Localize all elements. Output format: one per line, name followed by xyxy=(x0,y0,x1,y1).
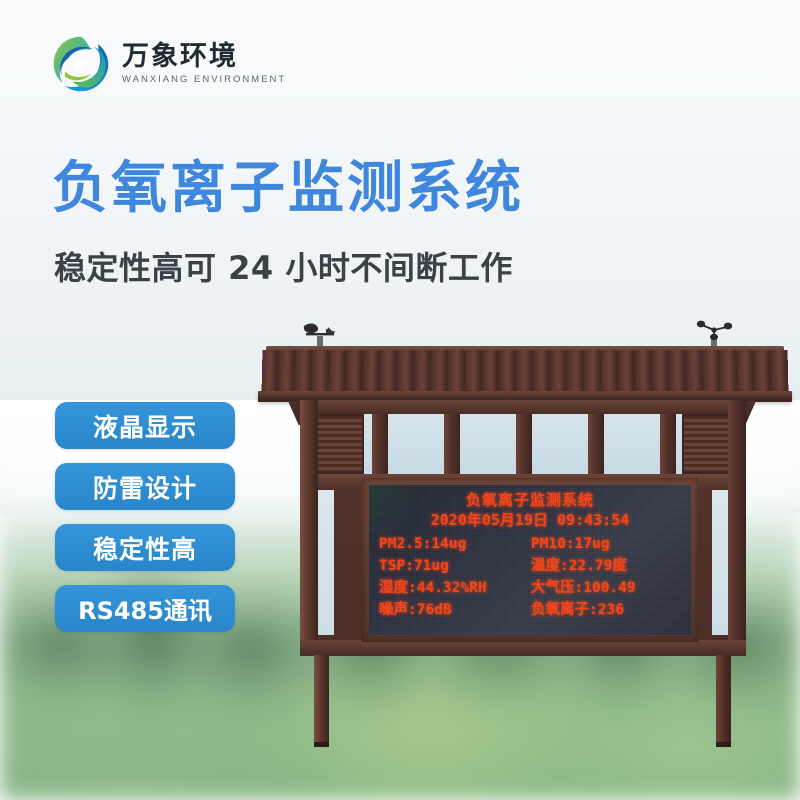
support-leg-right-cap xyxy=(716,742,731,747)
led-reading-humidity: 湿度:44.32%RH xyxy=(379,577,531,599)
led-reading-pressure: 大气压:100.49 xyxy=(531,577,681,599)
cabinet-side-pane-right xyxy=(712,490,728,635)
window-mullion-4 xyxy=(588,412,604,476)
window-mullion-3 xyxy=(516,412,532,476)
cabinet-rail-top xyxy=(300,400,746,414)
led-reading-negative-oxygen-ions: 负氧离子:236 xyxy=(531,599,681,621)
led-reading-temperature: 温度:22.79度 xyxy=(531,555,681,577)
window-mullion-2 xyxy=(444,412,460,476)
monitoring-station: 负氧离子监测系统 2020年05月19日 09:43:54 PM2.5:14ug… xyxy=(0,0,800,800)
cabinet-post-right xyxy=(728,400,746,655)
support-leg-left xyxy=(314,655,329,747)
radiation-shield-louver-right xyxy=(682,414,730,474)
window-mullion-5 xyxy=(660,412,676,476)
cabinet-rail-bottom xyxy=(300,640,746,656)
led-reading-tsp: TSP:71ug xyxy=(379,555,531,577)
led-title: 负氧离子监测系统 xyxy=(379,491,681,510)
window-mullion-1 xyxy=(372,412,388,476)
led-display-frame: 负氧离子监测系统 2020年05月19日 09:43:54 PM2.5:14ug… xyxy=(362,478,698,642)
roof-tiles xyxy=(262,350,789,394)
led-display-screen[interactable]: 负氧离子监测系统 2020年05月19日 09:43:54 PM2.5:14ug… xyxy=(369,485,691,635)
radiation-shield-louver-left xyxy=(316,414,364,474)
led-datetime: 2020年05月19日 09:43:54 xyxy=(379,511,681,531)
support-leg-left-cap xyxy=(314,742,329,747)
led-reading-noise: 噪声:76dB xyxy=(379,599,531,621)
support-leg-right xyxy=(716,655,731,747)
cabinet-side-pane-left xyxy=(318,490,334,635)
led-reading-pm10: PM10:17ug xyxy=(531,533,681,555)
cabinet-post-left xyxy=(300,400,318,655)
promo-poster: 万象环境 WANXIANG ENVIRONMENT 负氧离子监测系统 稳定性高可… xyxy=(0,0,800,800)
led-reading-pm25: PM2.5:14ug xyxy=(379,533,531,555)
led-readings-grid: PM2.5:14ug PM10:17ug TSP:71ug 温度:22.79度 … xyxy=(379,533,681,621)
